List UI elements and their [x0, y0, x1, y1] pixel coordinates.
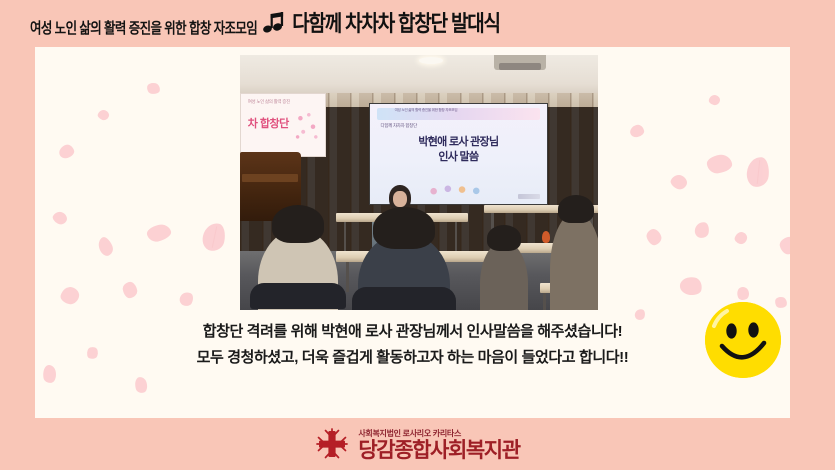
petal-14: [706, 153, 733, 174]
header-subtitle: 여성 노인 삶의 활력 증진을 위한 합창 자조모임: [30, 15, 257, 37]
chair-back-0: [250, 283, 346, 309]
ceiling-light: [419, 57, 443, 64]
petal-3: [51, 209, 69, 226]
petal-vein: [756, 160, 760, 184]
caption-line-2: 모두 경청하셨고, 더욱 즐겁게 활동하고자 하는 마음이 들었다고 합니다!!: [35, 345, 790, 371]
banner-subtitle: 여성 노인 삶의 활력 증진: [248, 99, 290, 105]
table-leg: [346, 262, 349, 292]
petal-7: [59, 285, 81, 306]
footer-org-name: 당감종합사회복지관: [358, 440, 519, 461]
audience-member-head-3: [558, 195, 594, 223]
screen-subtitle: 다함께 차차차 합창단: [380, 123, 416, 129]
petal-2: [146, 82, 160, 95]
footer: 사회복지법인 로사리오 카리타스 당감종합사회복지관: [0, 418, 835, 470]
petal-4: [96, 235, 116, 258]
petal-9: [178, 290, 196, 308]
event-photo: 여성 노인 삶의 활력 증진 차 합창단 여성 노인 삶의 활력 증진을 위한 …: [240, 55, 598, 310]
table-ornament: [542, 231, 550, 243]
audience-member-head-2: [487, 225, 521, 251]
caritas-cross-icon: [315, 427, 349, 461]
petal-6: [200, 221, 227, 253]
petal-21: [678, 275, 703, 297]
audience-member-3: [550, 212, 598, 310]
music-note-icon: [263, 12, 289, 34]
petal-22: [735, 285, 751, 302]
screen-logo: [518, 194, 540, 199]
petal-1: [97, 108, 111, 121]
petal-vein: [211, 226, 217, 248]
chair-back-1: [352, 287, 456, 310]
petal-19: [733, 230, 748, 245]
audience-member-head-0: [272, 205, 324, 243]
petal-13: [708, 94, 721, 106]
content-card: 여성 노인 삶의 활력 증진 차 합창단 여성 노인 삶의 활력 증진을 위한 …: [35, 47, 790, 418]
header-title-line: 여성 노인 삶의 활력 증진을 위한 합창 자조모임 다함께 차차차 합창단 발…: [30, 10, 500, 38]
caption-line-1: 합창단 격려를 위해 박현애 로사 관장님께서 인사말씀을 해주셨습니다!: [35, 319, 790, 345]
petal-17: [645, 227, 664, 247]
table-leg: [344, 222, 347, 252]
petal-20: [778, 235, 790, 256]
petal-0: [57, 143, 75, 160]
petal-15: [745, 156, 770, 188]
petal-8: [122, 281, 139, 299]
petal-16: [669, 172, 690, 192]
banner-flower-graphic: [292, 108, 320, 142]
audience-member-head-1: [373, 207, 435, 249]
petal-5: [145, 222, 172, 243]
smiley-face-sticker: [705, 302, 781, 378]
speaker-face: [393, 191, 406, 207]
screen-title: 박현애 로사 관장님 인사 말씀: [370, 135, 547, 165]
photo-banner: 여성 노인 삶의 활력 증진 차 합창단: [240, 93, 326, 157]
caption-block: 합창단 격려를 위해 박현애 로사 관장님께서 인사말씀을 해주셨습니다! 모두…: [35, 319, 790, 371]
header-title: 다함께 차차차 합창단 발대식: [292, 6, 500, 37]
table-leg: [455, 222, 458, 252]
table-leg: [543, 293, 546, 310]
photo-ceiling: [240, 55, 598, 96]
page-header: 여성 노인 삶의 활력 증진을 위한 합창 자조모임 다함께 차차차 합창단 발…: [0, 0, 835, 47]
footer-org-text: 사회복지법인 로사리오 카리타스 당감종합사회복지관: [358, 428, 519, 461]
footer-org-subtitle: 사회복지법인 로사리오 카리타스: [358, 428, 461, 439]
projector: [494, 55, 546, 70]
screen-decoration: [423, 180, 494, 196]
petal-12: [629, 124, 645, 139]
petal-25: [133, 376, 149, 395]
screen-band-text: 여성 노인 삶의 활력 증진을 위한 합창 자조모임: [395, 108, 458, 113]
banner-text: 차 합창단: [248, 115, 289, 131]
petal-18: [694, 221, 711, 239]
